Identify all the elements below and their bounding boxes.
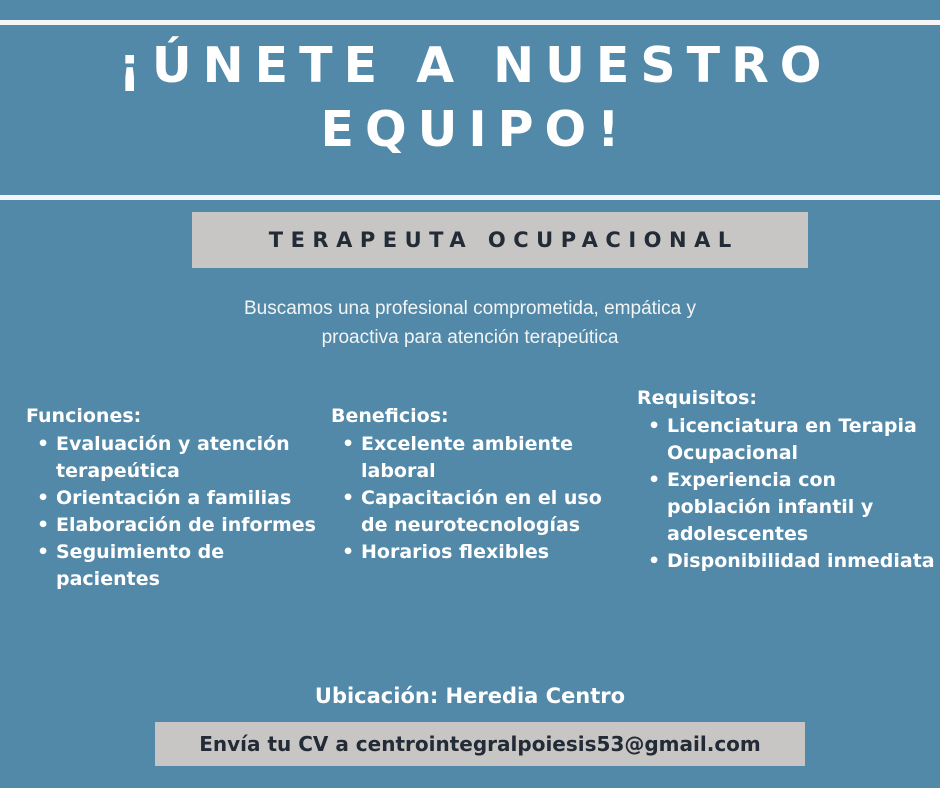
bullet-icon: • [37, 512, 49, 539]
page-title: ¡ÚNETE A NUESTRO EQUIPO! [0, 34, 940, 162]
list-item-label: Elaboración de informes [56, 514, 316, 536]
headline-line-2: EQUIPO! [0, 98, 940, 162]
list-item-label: Evaluación y atención terapeútica [56, 433, 290, 482]
list-item: •Evaluación y atención terapeútica [26, 431, 326, 485]
location-text: Ubicación: Heredia Centro [0, 682, 940, 710]
column-list-requisitos: •Licenciatura en Terapia Ocupacional •Ex… [637, 413, 937, 575]
list-item-label: Horarios flexibles [361, 541, 549, 563]
list-item-label: Orientación a familias [56, 487, 291, 509]
column-title-beneficios: Beneficios: [331, 404, 621, 428]
bullet-icon: • [648, 413, 660, 440]
tagline: Buscamos una profesional comprometida, e… [0, 294, 940, 352]
list-item-label: Excelente ambiente laboral [361, 433, 573, 482]
bullet-icon: • [342, 485, 354, 512]
column-funciones: Funciones: •Evaluación y atención terape… [26, 386, 326, 593]
list-item: •Capacitación en el uso de neurotecnolog… [331, 485, 621, 539]
tagline-line-1: Buscamos una profesional comprometida, e… [0, 294, 940, 323]
column-title-funciones: Funciones: [26, 404, 326, 428]
column-list-beneficios: •Excelente ambiente laboral •Capacitació… [331, 431, 621, 566]
column-title-requisitos: Requisitos: [637, 386, 937, 410]
role-banner: TERAPEUTA OCUPACIONAL [192, 212, 808, 268]
list-item-label: Experiencia con población infantil y ado… [667, 469, 873, 545]
list-item: •Excelente ambiente laboral [331, 431, 621, 485]
job-posting-poster: ¡ÚNETE A NUESTRO EQUIPO! TERAPEUTA OCUPA… [0, 0, 940, 788]
list-item: •Disponibilidad inmediata [637, 548, 937, 575]
list-item: •Seguimiento de pacientes [26, 539, 326, 593]
column-list-funciones: •Evaluación y atención terapeútica •Orie… [26, 431, 326, 593]
list-item: •Elaboración de informes [26, 512, 326, 539]
list-item: •Horarios flexibles [331, 539, 621, 566]
list-item: •Experiencia con población infantil y ad… [637, 467, 937, 548]
list-item-label: Licenciatura en Terapia Ocupacional [667, 415, 917, 464]
list-item-label: Seguimiento de pacientes [56, 541, 224, 590]
bullet-icon: • [648, 548, 660, 575]
bullet-icon: • [37, 431, 49, 458]
list-item: •Licenciatura en Terapia Ocupacional [637, 413, 937, 467]
details-columns: Funciones: •Evaluación y atención terape… [0, 386, 940, 626]
bullet-icon: • [648, 467, 660, 494]
headline-line-1: ¡ÚNETE A NUESTRO [0, 34, 940, 98]
role-banner-label: TERAPEUTA OCUPACIONAL [261, 228, 738, 252]
column-beneficios: Beneficios: •Excelente ambiente laboral … [331, 386, 621, 566]
list-item-label: Capacitación en el uso de neurotecnologí… [361, 487, 602, 536]
email-cta-label: Envía tu CV a centrointegralpoiesis53@gm… [199, 732, 761, 756]
list-item: •Orientación a familias [26, 485, 326, 512]
bullet-icon: • [342, 431, 354, 458]
email-cta-banner[interactable]: Envía tu CV a centrointegralpoiesis53@gm… [155, 722, 805, 766]
divider-line-bottom [0, 195, 940, 200]
tagline-line-2: proactiva para atención terapeútica [0, 323, 940, 352]
bullet-icon: • [37, 485, 49, 512]
list-item-label: Disponibilidad inmediata [667, 550, 935, 572]
bullet-icon: • [342, 539, 354, 566]
divider-line-top [0, 20, 940, 25]
column-requisitos: Requisitos: •Licenciatura en Terapia Ocu… [637, 386, 937, 575]
bullet-icon: • [37, 539, 49, 566]
